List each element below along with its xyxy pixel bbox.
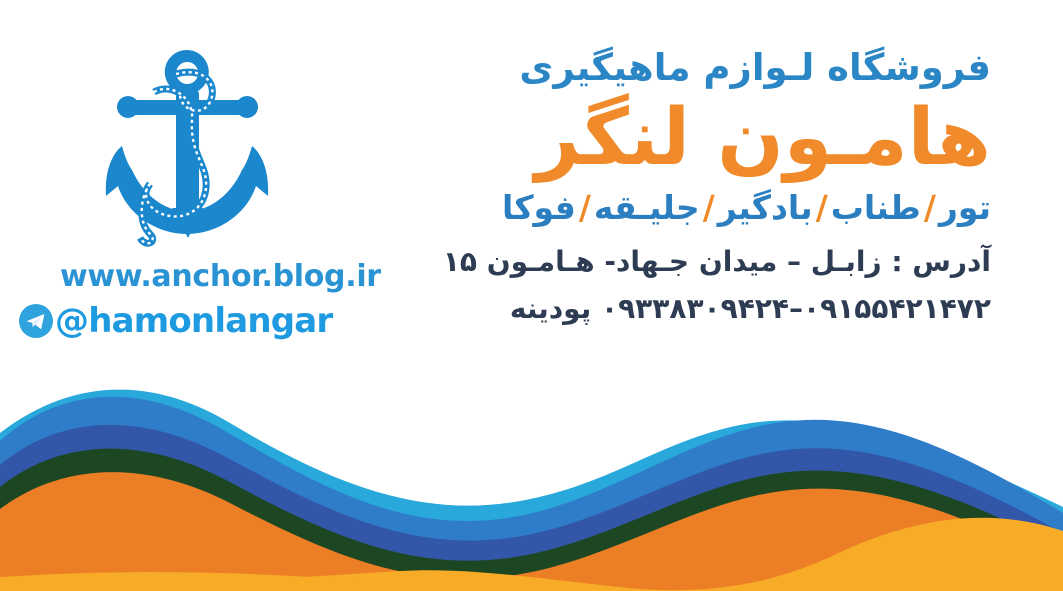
telegram-contact[interactable]: @hamonlangar: [18, 303, 332, 339]
product-separator: /: [700, 188, 718, 227]
product-separator: /: [576, 188, 594, 227]
anchor-logo: [88, 38, 288, 263]
product-list: تور/طناب/بادگیر/جلیـقه/فوکا: [371, 188, 991, 228]
product-item: فوکا: [502, 188, 576, 227]
website-url[interactable]: www.anchor.blog.ir: [60, 259, 360, 294]
product-item: تور: [939, 188, 991, 227]
product-item: بادگیر: [718, 188, 813, 227]
brand-name: هامـون لنگر: [371, 95, 991, 182]
tagline: فروشگاه لـوازم ماهیگیری: [371, 48, 991, 89]
phone-line: ۰۹۱۵۵۴۲۱۴۷۲–۰۹۳۳۸۳۰۹۴۲۴ پودینه: [371, 291, 991, 326]
product-separator: /: [921, 188, 939, 227]
address-line: آدرس : زابـل – میدان جـهاد- هـامـون ۱۵: [371, 244, 991, 279]
info-block: فروشگاه لـوازم ماهیگیری هامـون لنگر تور/…: [371, 48, 991, 326]
product-item: جلیـقه: [594, 188, 700, 227]
telegram-icon[interactable]: [18, 303, 54, 339]
product-item: طناب: [831, 188, 921, 227]
anchor-icon: [88, 38, 288, 263]
wave-graphic: [0, 381, 1063, 591]
product-separator: /: [813, 188, 831, 227]
telegram-handle[interactable]: @hamonlangar: [55, 304, 332, 338]
business-card: www.anchor.blog.ir @hamonlangar فروشگاه …: [0, 0, 1063, 591]
